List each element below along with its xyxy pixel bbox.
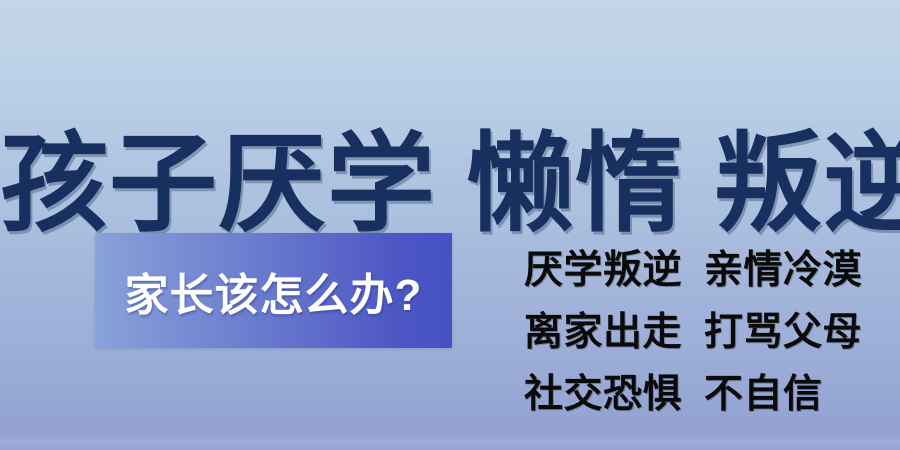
symptom-list: 厌学叛逆亲情冷漠 离家出走打骂父母 社交恐惧不自信 [524, 240, 884, 426]
list-item: 厌学叛逆亲情冷漠 [524, 240, 884, 302]
symptom-label: 打骂父母 [704, 302, 862, 364]
headline-part-3: 叛逆 [714, 123, 900, 244]
cta-banner[interactable]: 家长该怎么办? [95, 233, 452, 348]
symptom-label: 社交恐惧 [524, 364, 682, 426]
page-title: 孩子厌学懒惰叛逆 [0, 124, 900, 245]
list-item: 离家出走打骂父母 [524, 302, 884, 364]
symptom-label: 不自信 [704, 364, 823, 426]
symptom-label: 厌学叛逆 [524, 240, 682, 302]
symptom-label: 亲情冷漠 [704, 240, 862, 302]
headline-part-2: 懒惰 [466, 123, 684, 244]
headline-part-1: 孩子厌学 [0, 123, 436, 244]
symptom-label: 离家出走 [524, 302, 682, 364]
list-item: 社交恐惧不自信 [524, 364, 884, 426]
bottom-gradient-band [0, 434, 900, 450]
cta-banner-label: 家长该怎么办? [125, 259, 423, 323]
poster-canvas: 孩子厌学懒惰叛逆 家长该怎么办? 厌学叛逆亲情冷漠 离家出走打骂父母 社交恐惧不… [0, 0, 900, 450]
